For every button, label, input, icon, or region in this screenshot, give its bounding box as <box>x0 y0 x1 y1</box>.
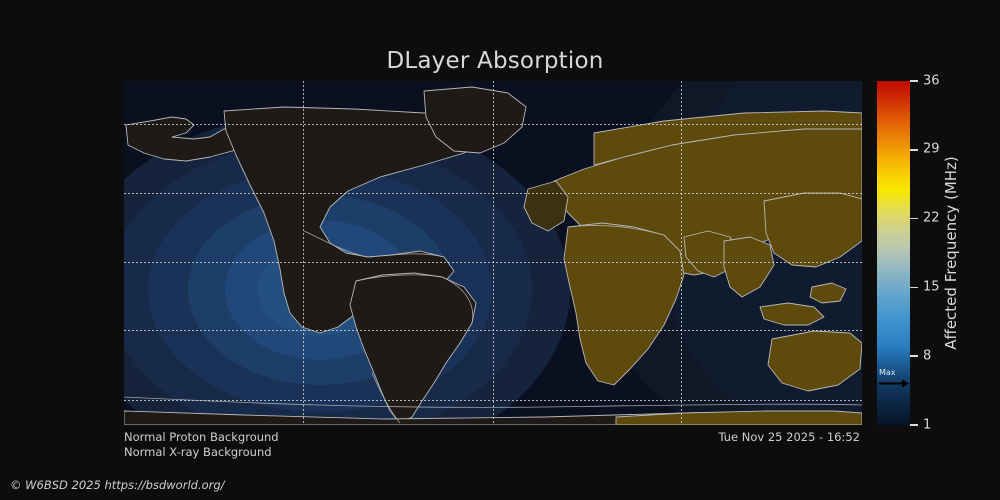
tick-dash-icon <box>910 355 918 357</box>
colorbar[interactable]: 36 29 22 15 8 1 <box>877 81 910 425</box>
colorbar-axis-label: Affected Frequency (MHz) <box>940 81 962 425</box>
tick-dash-icon <box>910 287 918 289</box>
world-map[interactable] <box>124 81 862 425</box>
tick-dash-icon <box>910 149 918 151</box>
xray-status: Normal X-ray Background <box>124 445 272 459</box>
colorbar-gradient <box>877 81 910 425</box>
tick-dash-icon <box>910 80 918 82</box>
map-canvas <box>124 81 862 425</box>
credit-line: © W6BSD 2025 https://bsdworld.org/ <box>10 478 225 492</box>
tick-dash-icon <box>910 424 918 426</box>
timestamp: Tue Nov 25 2025 - 16:52 <box>718 430 860 444</box>
proton-status: Normal Proton Background <box>124 430 279 444</box>
dlayer-absorption-page: DLayer Absorption <box>0 0 1000 500</box>
page-title: DLayer Absorption <box>0 48 990 74</box>
tick-dash-icon <box>910 218 918 220</box>
